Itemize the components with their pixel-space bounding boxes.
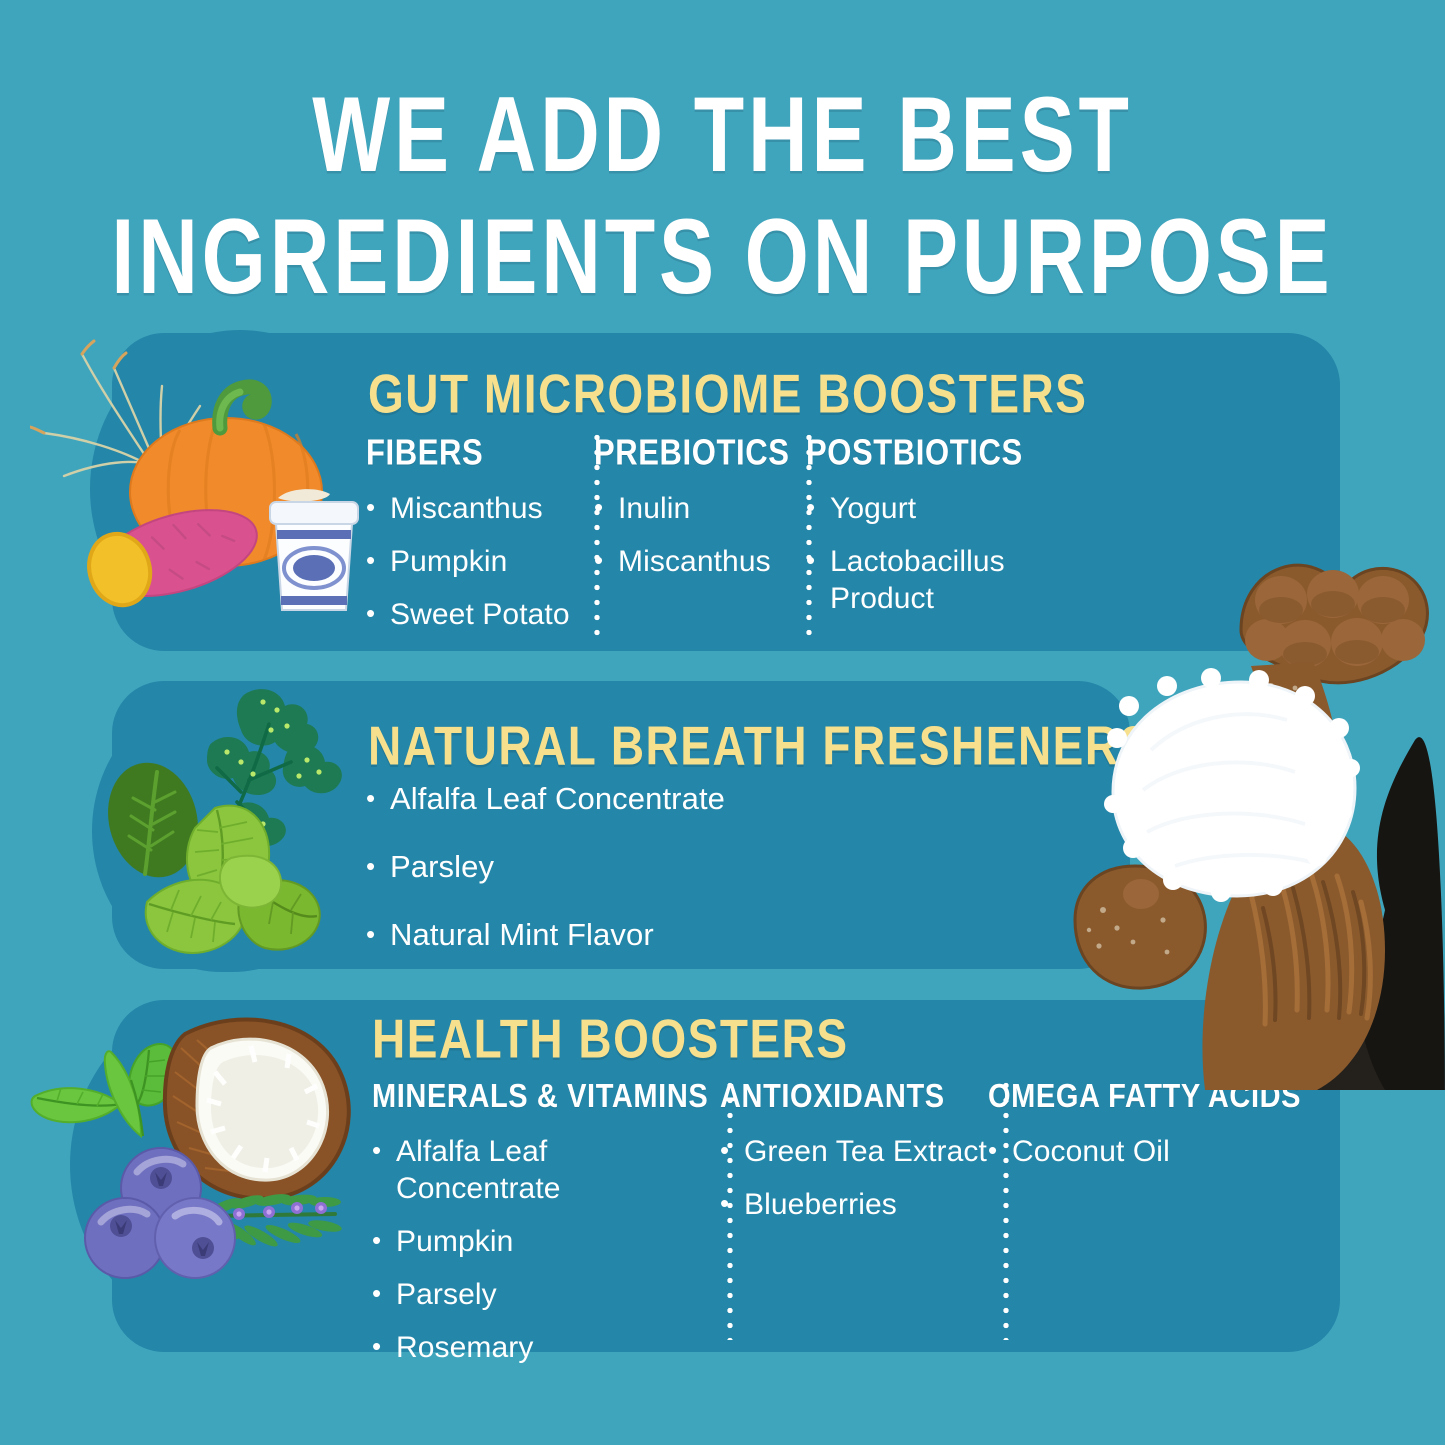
column-heading-prebiotics: PREBIOTICS [594,432,806,474]
column-antioxidants: ANTIOXIDANTS Green Tea Extract Blueberri… [720,1078,988,1239]
section-3-columns: MINERALS & VITAMINS Alfalfa Leaf Concent… [372,1078,1298,1382]
column-heading-fibers: FIBERS [366,432,594,474]
column-heading-postbiotics: POSTBIOTICS [806,432,1056,474]
list-item: Alfalfa Leaf Concentrate [366,780,986,818]
column-divider [806,430,812,644]
list-postbiotics: Yogurt Lactobacillus Product [806,490,1056,617]
section-heading-health-boosters: HEALTH BOOSTERS [372,1007,849,1071]
list-antioxidants: Green Tea Extract Blueberries [720,1133,988,1223]
column-omega-fatty-acids: OMEGA FATTY ACIDS Coconut Oil [988,1078,1298,1186]
list-item: Green Tea Extract [720,1133,988,1170]
column-fibers: FIBERS Miscanthus Pumpkin Sweet Potato [366,432,594,649]
list-item: Miscanthus [594,543,806,580]
column-divider [727,1078,733,1340]
list-item: Inulin [594,490,806,527]
list-item: Blueberries [720,1186,988,1223]
list-item: Yogurt [806,490,1056,527]
page-title: WE ADD THE BEST INGREDIENTS ON PURPOSE [0,78,1445,292]
list-item: Miscanthus [366,490,594,527]
section-heading-natural-breath-fresheners: NATURAL BREATH FRESHENERS [368,714,1152,778]
list-item: Parsely [372,1276,720,1313]
list-natural-breath-fresheners: Alfalfa Leaf Concentrate Parsley Natural… [366,780,986,984]
column-postbiotics: POSTBIOTICS Yogurt Lactobacillus Product [806,432,1056,633]
column-heading-antioxidants: ANTIOXIDANTS [720,1078,988,1116]
title-line-1: WE ADD THE BEST [29,78,1416,192]
list-item: Rosemary [372,1329,720,1366]
list-prebiotics: Inulin Miscanthus [594,490,806,580]
list-minerals-vitamins: Alfalfa Leaf Concentrate Pumpkin Parsely… [372,1133,720,1366]
list-item: Parsley [366,848,986,886]
list-omega-fatty-acids: Coconut Oil [988,1133,1298,1170]
list-item: Natural Mint Flavor [366,916,986,954]
list-item: Pumpkin [372,1223,720,1260]
title-line-2: INGREDIENTS ON PURPOSE [29,200,1416,314]
list-item: Alfalfa Leaf Concentrate [372,1133,720,1207]
column-prebiotics: PREBIOTICS Inulin Miscanthus [594,432,806,596]
list-fibers: Miscanthus Pumpkin Sweet Potato [366,490,594,633]
column-heading-omega-fatty-acids: OMEGA FATTY ACIDS [988,1078,1298,1116]
list-item: Pumpkin [366,543,594,580]
column-heading-minerals-vitamins: MINERALS & VITAMINS [372,1078,720,1116]
section-heading-gut-microbiome-boosters: GUT MICROBIOME BOOSTERS [368,362,1087,426]
list-item: Sweet Potato [366,596,594,633]
column-minerals-vitamins: MINERALS & VITAMINS Alfalfa Leaf Concent… [372,1078,720,1382]
section-1-columns: FIBERS Miscanthus Pumpkin Sweet Potato P… [366,432,1056,649]
infographic-canvas: WE ADD THE BEST INGREDIENTS ON PURPOSE [0,0,1445,1445]
column-divider [594,430,600,644]
list-item: Lactobacillus Product [806,543,1056,617]
list-item: Coconut Oil [988,1133,1298,1170]
column-divider [1003,1078,1009,1340]
